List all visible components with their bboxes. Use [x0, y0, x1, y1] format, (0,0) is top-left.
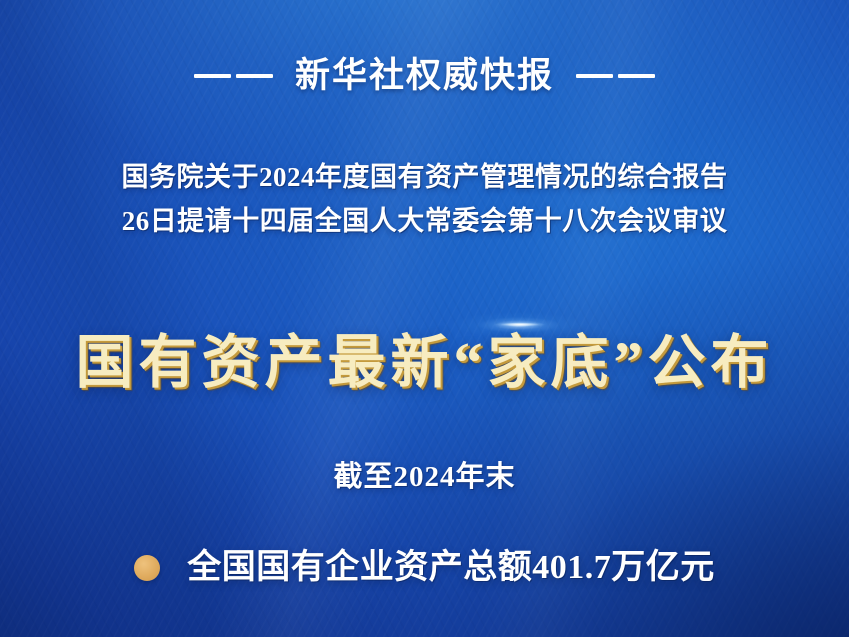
main-headline: 国有资产最新“家底”公布	[0, 334, 849, 392]
statistics-list: 全国国有企业资产总额401.7万亿元	[0, 548, 849, 589]
brand-header: 新华社权威快报	[0, 58, 849, 93]
brand-header-title: 新华社权威快报	[295, 58, 554, 93]
dateline: 截至2024年末	[0, 460, 849, 495]
subheadline-block: 国务院关于2024年度国有资产管理情况的综合报告 26日提请十四届全国人大常委会…	[0, 155, 849, 243]
right-rule-icon	[576, 74, 655, 78]
circle-bullet-icon	[134, 555, 160, 581]
left-rule-icon	[194, 74, 273, 78]
list-item-label: 全国国有企业资产总额401.7万亿元	[187, 548, 715, 589]
news-card: 新华社权威快报 国务院关于2024年度国有资产管理情况的综合报告 26日提请十四…	[0, 0, 849, 637]
subheadline-line-1: 国务院关于2024年度国有资产管理情况的综合报告	[0, 155, 849, 199]
card-content: 新华社权威快报 国务院关于2024年度国有资产管理情况的综合报告 26日提请十四…	[0, 0, 849, 637]
subheadline-line-2: 26日提请十四届全国人大常委会第十八次会议审议	[0, 199, 849, 243]
list-item: 全国国有企业资产总额401.7万亿元	[0, 548, 849, 589]
